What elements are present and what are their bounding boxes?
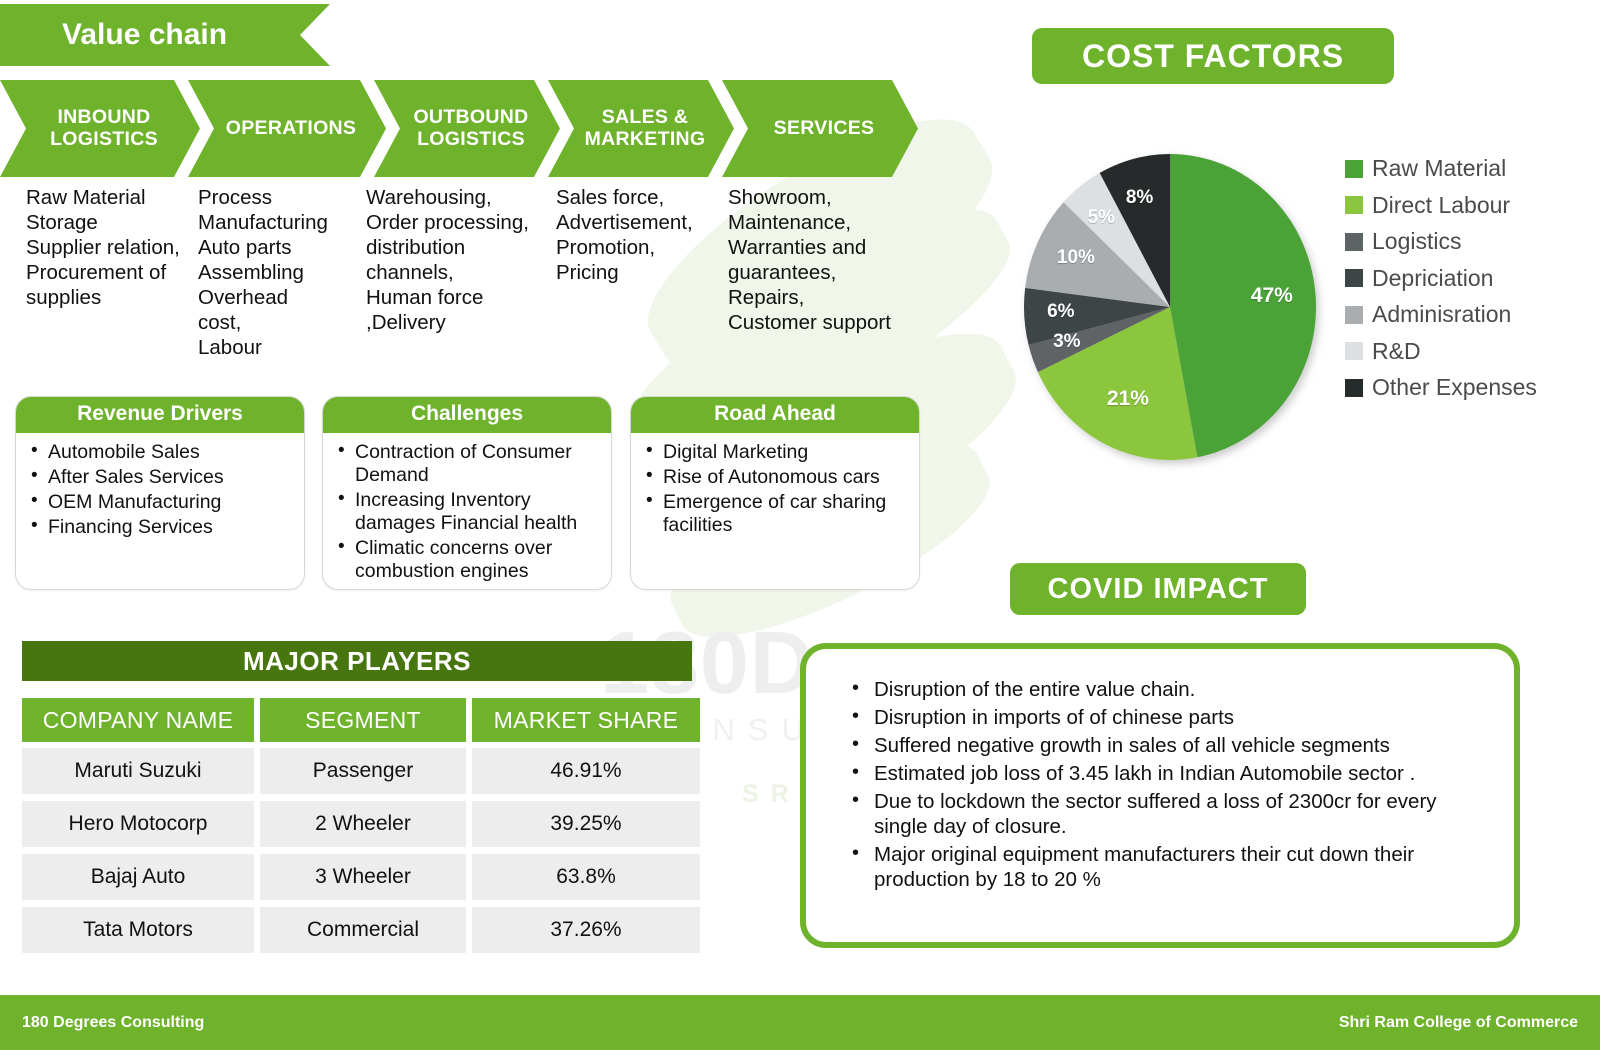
list-item: Emergence of car sharing facilities (641, 491, 909, 537)
footer-left-label: 180 Degrees Consulting (22, 1014, 204, 1032)
card-body: Digital Marketing Rise of Autonomous car… (631, 433, 919, 549)
list-item: Estimated job loss of 3.45 lakh in India… (846, 761, 1492, 786)
chevron-sales-marketing[interactable]: SALES & MARKETING (548, 80, 734, 177)
table-cell: Commercial (260, 907, 466, 953)
chevron-label: SERVICES (774, 118, 875, 140)
page-footer: 180 Degrees Consulting Shri Ram College … (0, 995, 1600, 1050)
legend-swatch-icon (1345, 269, 1363, 287)
table-cell: 37.26% (472, 907, 700, 953)
card-revenue-drivers: Revenue Drivers Automobile Sales After S… (15, 396, 305, 590)
pie-label-logistics: 3% (1053, 331, 1080, 353)
table-cell: Passenger (260, 748, 466, 794)
legend-label: Other Expenses (1372, 374, 1537, 401)
value-chain-chevrons: INBOUND LOGISTICS OPERATIONS OUTBOUND LO… (0, 80, 930, 177)
list-item: Digital Marketing (641, 441, 909, 464)
value-chain-title: Value chain (62, 18, 227, 52)
list-item: Climatic concerns over combustion engine… (333, 537, 601, 583)
table-cell: 3 Wheeler (260, 854, 466, 900)
vc-detail-inbound: Raw Material Storage Supplier relation, … (26, 185, 202, 310)
card-body: Automobile Sales After Sales Services OE… (16, 433, 304, 551)
pie-label-depriciation: 6% (1047, 301, 1074, 323)
legend-swatch-icon (1345, 379, 1363, 397)
cost-factors-label: COST FACTORS (1082, 38, 1344, 75)
legend-label: Raw Material (1372, 155, 1506, 182)
list-item: Automobile Sales (26, 441, 294, 464)
list-item: Disruption in imports of of chinese part… (846, 705, 1492, 730)
table-cell: Maruti Suzuki (22, 748, 254, 794)
chevron-label: OPERATIONS (226, 118, 356, 140)
value-chain-ribbon: Value chain (0, 4, 330, 66)
chevron-label: SALES & MARKETING (585, 107, 706, 151)
chevron-outbound-logistics[interactable]: OUTBOUND LOGISTICS (374, 80, 560, 177)
pie-label-raw-material: 47% (1251, 284, 1293, 308)
pie-label-r-d: 5% (1088, 207, 1115, 229)
legend-label: Logistics (1372, 228, 1461, 255)
legend-item-raw-material[interactable]: Raw Material (1345, 155, 1537, 182)
list-item: After Sales Services (26, 466, 294, 489)
legend-item-adminisration[interactable]: Adminisration (1345, 301, 1537, 328)
chevron-label: INBOUND LOGISTICS (50, 107, 158, 151)
pie-label-other-expenses: 8% (1126, 187, 1153, 209)
list-item: OEM Manufacturing (26, 491, 294, 514)
table-row: Hero Motocorp2 Wheeler39.25% (22, 801, 700, 847)
table-row: Bajaj Auto3 Wheeler63.8% (22, 854, 700, 900)
covid-impact-label: COVID IMPACT (1048, 573, 1269, 606)
legend-label: Adminisration (1372, 301, 1511, 328)
legend-label: Direct Labour (1372, 192, 1510, 219)
card-challenges: Challenges Contraction of Consumer Deman… (322, 396, 612, 590)
covid-impact-title: COVID IMPACT (1010, 563, 1306, 615)
card-title: Revenue Drivers (16, 397, 304, 433)
chevron-inbound-logistics[interactable]: INBOUND LOGISTICS (0, 80, 200, 177)
table-cell: Bajaj Auto (22, 854, 254, 900)
legend-swatch-icon (1345, 342, 1363, 360)
legend-item-direct-labour[interactable]: Direct Labour (1345, 192, 1537, 219)
legend-swatch-icon (1345, 196, 1363, 214)
pie-label-adminisration: 10% (1057, 247, 1095, 269)
list-item: Financing Services (26, 516, 294, 539)
chevron-operations[interactable]: OPERATIONS (188, 80, 386, 177)
chevron-services[interactable]: SERVICES (722, 80, 918, 177)
vc-detail-outbound: Warehousing, Order processing, distribut… (366, 185, 556, 335)
covid-impact-box: Disruption of the entire value chain. Di… (800, 643, 1520, 948)
legend-swatch-icon (1345, 160, 1363, 178)
list-item: Contraction of Consumer Demand (333, 441, 601, 487)
list-item: Major original equipment manufacturers t… (846, 842, 1492, 892)
table-row: Tata MotorsCommercial37.26% (22, 907, 700, 953)
table-cell: 63.8% (472, 854, 700, 900)
major-players-table: COMPANY NAME SEGMENT MARKET SHARE Maruti… (22, 698, 700, 960)
table-body: Maruti SuzukiPassenger46.91%Hero Motocor… (22, 748, 700, 953)
vc-detail-services: Showroom, Maintenance, Warranties and gu… (728, 185, 918, 335)
table-cell: 2 Wheeler (260, 801, 466, 847)
table-cell: Tata Motors (22, 907, 254, 953)
list-item: Due to lockdown the sector suffered a lo… (846, 789, 1492, 839)
list-item: Suffered negative growth in sales of all… (846, 733, 1492, 758)
table-cell: 39.25% (472, 801, 700, 847)
major-players-title: MAJOR PLAYERS (22, 641, 692, 681)
table-cell: 46.91% (472, 748, 700, 794)
column-header-market-share: MARKET SHARE (472, 698, 700, 742)
vc-detail-sales: Sales force, Advertisement, Promotion, P… (556, 185, 724, 285)
legend-item-logistics[interactable]: Logistics (1345, 228, 1537, 255)
card-title: Road Ahead (631, 397, 919, 433)
pie-legend: Raw MaterialDirect LabourLogisticsDepric… (1345, 155, 1537, 411)
cost-factors-pie-chart: 47%21%3%6%10%5%8% (960, 95, 1390, 520)
column-header-company: COMPANY NAME (22, 698, 254, 742)
legend-label: R&D (1372, 338, 1421, 365)
infographic-page: 180Degrees CONSULTING SRCC Value chain I… (0, 0, 1600, 1050)
list-item: Increasing Inventory damages Financial h… (333, 489, 601, 535)
legend-item-depriciation[interactable]: Depriciation (1345, 265, 1537, 292)
card-title: Challenges (323, 397, 611, 433)
pie-label-direct-labour: 21% (1107, 387, 1149, 411)
table-row: Maruti SuzukiPassenger46.91% (22, 748, 700, 794)
pie-slice-raw-material (1170, 154, 1316, 457)
major-players-label: MAJOR PLAYERS (243, 646, 471, 677)
footer-right-label: Shri Ram College of Commerce (1339, 1014, 1578, 1032)
legend-item-other-expenses[interactable]: Other Expenses (1345, 374, 1537, 401)
column-header-segment: SEGMENT (260, 698, 466, 742)
legend-swatch-icon (1345, 306, 1363, 324)
cost-factors-title: COST FACTORS (1032, 28, 1394, 84)
table-header-row: COMPANY NAME SEGMENT MARKET SHARE (22, 698, 700, 742)
legend-swatch-icon (1345, 233, 1363, 251)
list-item: Rise of Autonomous cars (641, 466, 909, 489)
table-cell: Hero Motocorp (22, 801, 254, 847)
card-road-ahead: Road Ahead Digital Marketing Rise of Aut… (630, 396, 920, 590)
legend-label: Depriciation (1372, 265, 1493, 292)
card-body: Contraction of Consumer Demand Increasin… (323, 433, 611, 590)
chevron-label: OUTBOUND LOGISTICS (413, 107, 528, 151)
vc-detail-operations: Process Manufacturing Auto parts Assembl… (198, 185, 366, 360)
pie-svg (960, 95, 1390, 520)
legend-item-r-d[interactable]: R&D (1345, 338, 1537, 365)
list-item: Disruption of the entire value chain. (846, 677, 1492, 702)
